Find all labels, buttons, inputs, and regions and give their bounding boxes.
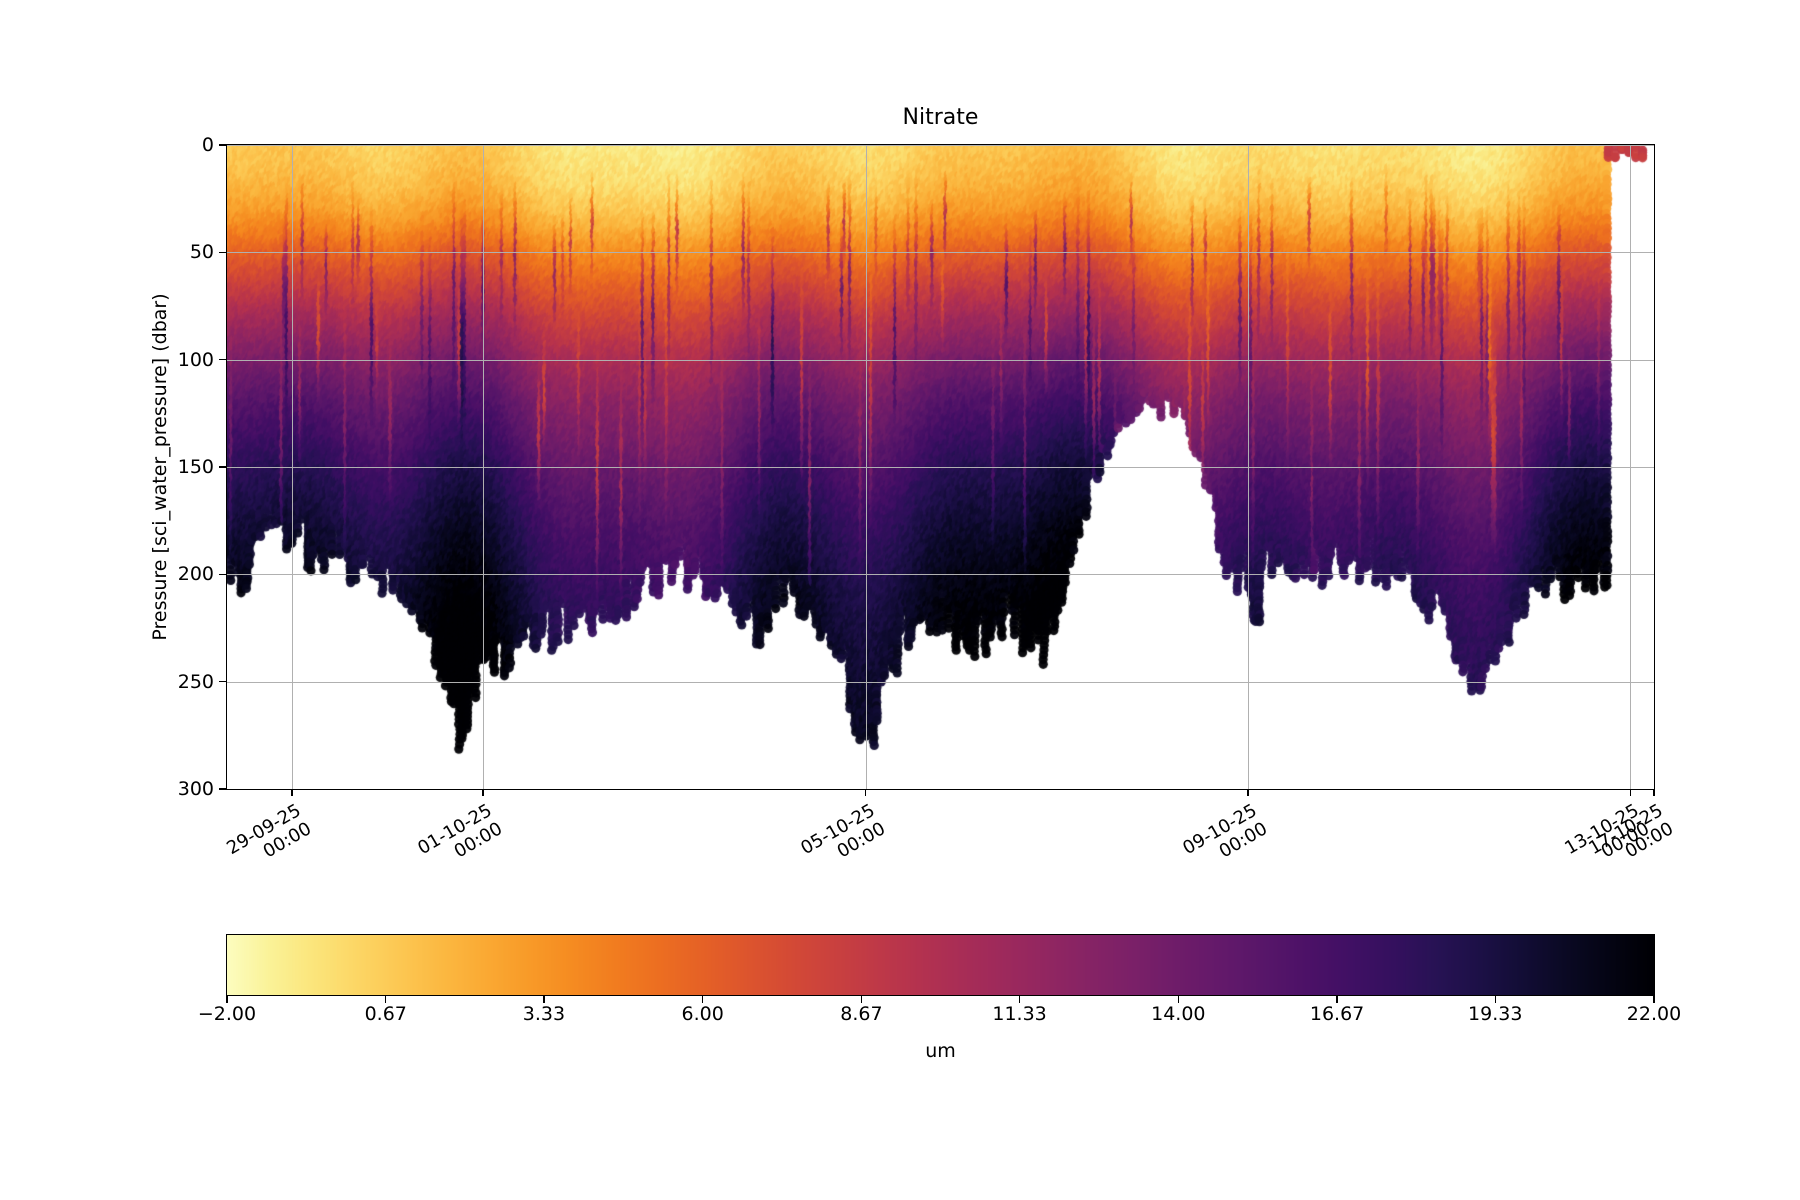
y-axis-tick-label: 100: [14, 349, 214, 371]
colorbar-tick-label: 6.00: [682, 1003, 724, 1025]
colorbar-tick-label: 14.00: [1151, 1003, 1205, 1025]
x-axis-tick-mark: [482, 789, 483, 796]
colorbar-tick-mark: [861, 996, 862, 1003]
colorbar[interactable]: [226, 934, 1655, 996]
x-axis-tick-mark: [291, 789, 292, 796]
figure-canvas: Nitrate Pressure [sci_water_pressure] (d…: [0, 0, 1800, 1200]
y-axis-tick-label: 50: [14, 241, 214, 263]
y-axis-tick-mark: [219, 574, 226, 575]
y-axis-tick-label: 300: [14, 778, 214, 800]
y-axis-tick-mark: [219, 466, 226, 467]
colorbar-tick-mark: [385, 996, 386, 1003]
colorbar-unit-label: um: [226, 1040, 1655, 1062]
page-title: Nitrate: [226, 105, 1655, 130]
colorbar-tick-label: 16.67: [1310, 1003, 1364, 1025]
y-axis-tick-label: 250: [14, 671, 214, 693]
colorbar-tick-mark: [1495, 996, 1496, 1003]
x-axis-tick-label: 05-10-2500:00: [738, 800, 889, 912]
colorbar-tick-label: 11.33: [992, 1003, 1046, 1025]
x-axis-tick-mark: [1653, 789, 1654, 796]
colorbar-tick-label: 22.00: [1627, 1003, 1681, 1025]
colorbar-tick-mark: [1178, 996, 1179, 1003]
x-axis-tick-label: 01-10-2500:00: [355, 800, 506, 912]
colorbar-tick-label: −2.00: [198, 1003, 256, 1025]
colorbar-gradient: [227, 935, 1654, 995]
y-axis-tick-mark: [219, 144, 226, 145]
colorbar-tick-mark: [1019, 996, 1020, 1003]
colorbar-tick-label: 3.33: [523, 1003, 565, 1025]
scatter-plot-canvas: [227, 145, 1654, 789]
x-axis-tick-label: 29-09-2500:00: [164, 800, 315, 912]
x-axis-tick-mark: [1247, 789, 1248, 796]
colorbar-tick-mark: [702, 996, 703, 1003]
y-axis-tick-mark: [219, 681, 226, 682]
colorbar-tick-mark: [1336, 996, 1337, 1003]
y-axis-tick-label: 150: [14, 456, 214, 478]
x-axis-tick-mark: [1630, 789, 1631, 796]
colorbar-tick-mark: [543, 996, 544, 1003]
y-axis-tick-mark: [219, 359, 226, 360]
y-axis-tick-mark: [219, 252, 226, 253]
plot-area[interactable]: [226, 144, 1655, 790]
x-axis-tick-mark: [865, 789, 866, 796]
colorbar-tick-mark: [226, 996, 227, 1003]
y-axis-tick-label: 0: [14, 134, 214, 156]
colorbar-tick-label: 0.67: [365, 1003, 407, 1025]
y-axis-tick-mark: [219, 788, 226, 789]
y-axis-tick-label: 200: [14, 563, 214, 585]
colorbar-tick-label: 8.67: [840, 1003, 882, 1025]
x-axis-tick-label: 09-10-2500:00: [1120, 800, 1271, 912]
colorbar-tick-label: 19.33: [1468, 1003, 1522, 1025]
colorbar-tick-mark: [1653, 996, 1654, 1003]
